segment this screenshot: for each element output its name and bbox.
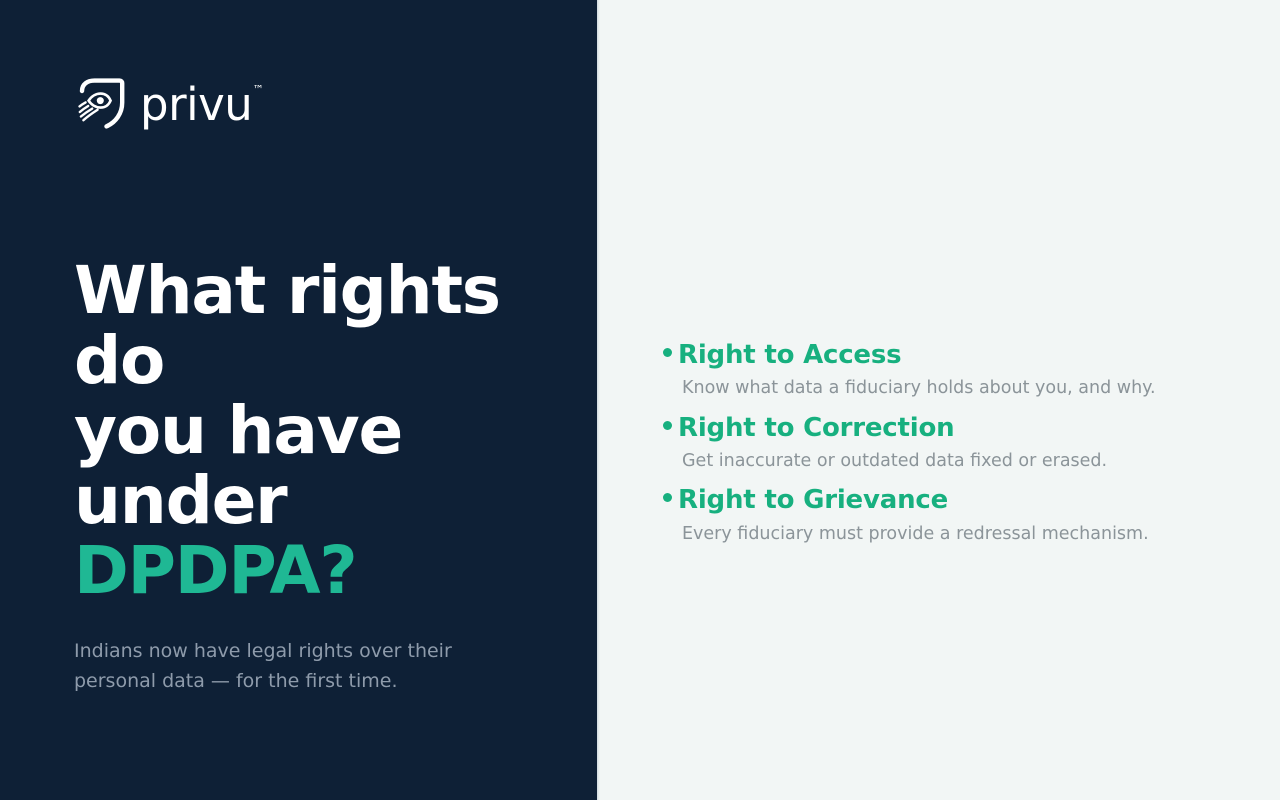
headline-line-3: under — [74, 466, 574, 536]
right-title-label: Right to Correction — [678, 411, 954, 445]
right-title-access: Right to Access — [663, 338, 1223, 372]
bullet-dot-icon — [663, 421, 672, 430]
panel-divider — [597, 0, 600, 800]
right-title-grievance: Right to Grievance — [663, 483, 1223, 517]
right-desc-label: Every fiduciary must provide a redressal… — [682, 522, 1223, 547]
bullet-dot-icon — [663, 493, 672, 502]
list-item: Right to Correction Get inaccurate or ou… — [663, 411, 1223, 475]
brand-logo[interactable]: privu™ — [76, 78, 262, 130]
left-hero-panel: privu™ What rights do you have under DPD… — [0, 0, 597, 800]
hero-subtitle: Indians now have legal rights over their… — [74, 636, 494, 696]
brand-name: privu — [140, 78, 252, 131]
brand-wordmark: privu™ — [140, 82, 262, 127]
headline-accent-line: DPDPA? — [74, 536, 574, 606]
headline-line-1: What rights do — [74, 256, 574, 396]
rights-list: Right to Access Know what data a fiducia… — [663, 338, 1223, 556]
bullet-dot-icon — [663, 348, 672, 357]
right-desc-label: Know what data a fiduciary holds about y… — [682, 376, 1223, 401]
right-content-panel: Right to Access Know what data a fiducia… — [597, 0, 1280, 800]
right-title-label: Right to Grievance — [678, 483, 948, 517]
headline-line-2: you have — [74, 396, 574, 466]
trademark-symbol: ™ — [253, 84, 264, 95]
list-item: Right to Access Know what data a fiducia… — [663, 338, 1223, 402]
right-title-label: Right to Access — [678, 338, 901, 372]
list-item: Right to Grievance Every fiduciary must … — [663, 483, 1223, 547]
right-desc-label: Get inaccurate or outdated data fixed or… — [682, 449, 1223, 474]
slide-root: privu™ What rights do you have under DPD… — [0, 0, 1280, 800]
privu-eye-shield-icon — [76, 78, 126, 130]
page-title: What rights do you have under DPDPA? — [74, 256, 574, 606]
right-title-correction: Right to Correction — [663, 411, 1223, 445]
